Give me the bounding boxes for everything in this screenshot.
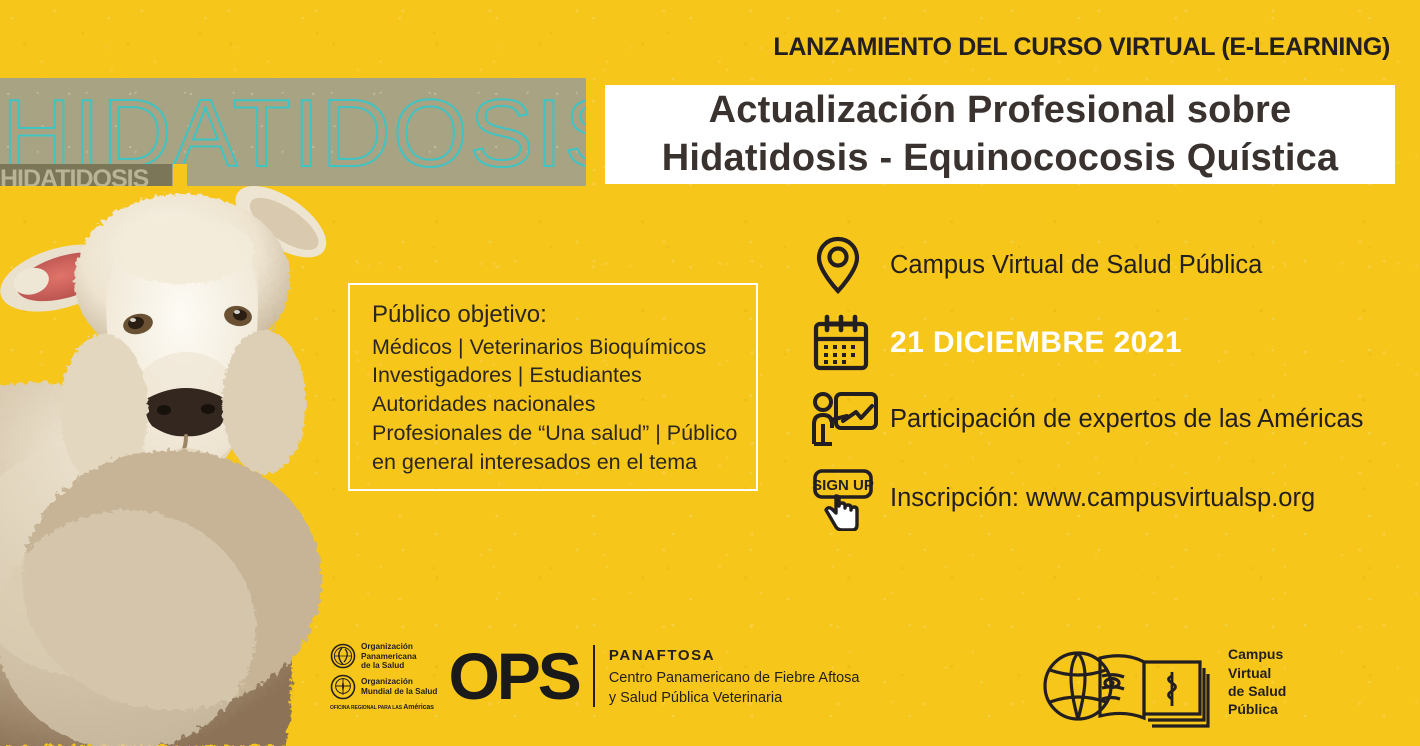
- who-name: Organización Mundial de la Salud: [361, 677, 437, 696]
- location-pin-icon: [812, 234, 890, 296]
- paho-emblem-row: Organización Panamericana de la Salud: [330, 642, 437, 671]
- panaftosa-desc-line2: y Salud Pública Veterinaria: [609, 688, 860, 708]
- calendar-icon: [812, 313, 890, 373]
- poster-canvas: HIDATIDOSIS HIDATIDOSIS: [0, 0, 1420, 746]
- detail-row-date: 21 DICIEMBRE 2021: [812, 313, 1412, 373]
- who-name-line2: Mundial de la Salud: [361, 687, 437, 697]
- detail-row-registration[interactable]: SIGN UP Inscripción: www.campusvirtualsp…: [812, 465, 1412, 531]
- paho-region-prefix: OFICINA REGIONAL PARA LAS: [330, 705, 402, 711]
- svg-text:SIGN UP: SIGN UP: [812, 477, 874, 494]
- presenter-icon: [812, 390, 890, 448]
- paho-region-suffix: Américas: [403, 704, 434, 711]
- sign-up-icon[interactable]: SIGN UP: [812, 465, 890, 531]
- page-title-line1: Actualización Profesional sobre: [709, 87, 1292, 134]
- paho-region-line: OFICINA REGIONAL PARA LAS Américas: [330, 704, 437, 711]
- page-title-line2: Hidatidosis - Equinococosis Quística: [662, 135, 1339, 182]
- paho-emblems: Organización Panamericana de la Salud Or…: [330, 642, 437, 711]
- footer-campus-block: Campus Virtual de Salud Pública: [1038, 636, 1286, 728]
- audience-line: Profesionales de “Una salud” | Público: [372, 419, 756, 448]
- audience-line: en general interesados en el tema: [372, 448, 756, 477]
- audience-box: Público objetivo: Médicos | Veterinarios…: [348, 283, 758, 491]
- title-box: Actualización Profesional sobre Hidatido…: [605, 85, 1395, 184]
- eyebrow-text: LANZAMIENTO DEL CURSO VIRTUAL (E-LEARNIN…: [773, 33, 1390, 62]
- audience-heading: Público objetivo:: [372, 299, 756, 331]
- detail-text-experts: Participación de expertos de las América…: [890, 405, 1363, 434]
- audience-line: Autoridades nacionales: [372, 390, 756, 419]
- ops-wordmark: OPS: [448, 648, 578, 705]
- footer-divider: [593, 645, 595, 707]
- panaftosa-desc-line1: Centro Panamericano de Fiebre Aftosa: [609, 668, 860, 688]
- campus-line1: Campus: [1228, 645, 1286, 663]
- detail-row-venue: Campus Virtual de Salud Pública: [812, 234, 1412, 296]
- campus-line3: de Salud: [1228, 682, 1286, 700]
- campus-virtual-name: Campus Virtual de Salud Pública: [1228, 645, 1286, 719]
- who-name-line1: Organización: [361, 677, 437, 687]
- paho-name: Organización Panamericana de la Salud: [361, 642, 417, 671]
- detail-text-venue: Campus Virtual de Salud Pública: [890, 251, 1262, 280]
- footer-paho-block: Organización Panamericana de la Salud Or…: [330, 642, 860, 711]
- campus-line2: Virtual: [1228, 664, 1286, 682]
- panaftosa-name: PANAFTOSA: [609, 645, 860, 668]
- panaftosa-block: PANAFTOSA Centro Panamericano de Fiebre …: [609, 645, 860, 708]
- who-seal-icon: [330, 674, 356, 700]
- event-details: Campus Virtual de Salud Pública 21 DICIE…: [812, 234, 1412, 548]
- audience-line: Investigadores | Estudiantes: [372, 361, 756, 390]
- paho-name-line1: Organización: [361, 642, 417, 652]
- sheep-photo: [0, 110, 338, 746]
- detail-row-experts: Participación de expertos de las América…: [812, 390, 1412, 448]
- detail-text-date: 21 DICIEMBRE 2021: [890, 326, 1182, 360]
- campus-virtual-logo-icon: [1038, 636, 1214, 728]
- audience-line: Médicos | Veterinarios Bioquímicos: [372, 333, 756, 362]
- paho-name-line2: Panamericana: [361, 652, 417, 662]
- paho-name-line3: de la Salud: [361, 661, 417, 671]
- who-emblem-row: Organización Mundial de la Salud: [330, 674, 437, 700]
- campus-line4: Pública: [1228, 700, 1286, 718]
- detail-text-registration[interactable]: Inscripción: www.campusvirtualsp.org: [890, 484, 1315, 513]
- paho-seal-icon: [330, 643, 356, 669]
